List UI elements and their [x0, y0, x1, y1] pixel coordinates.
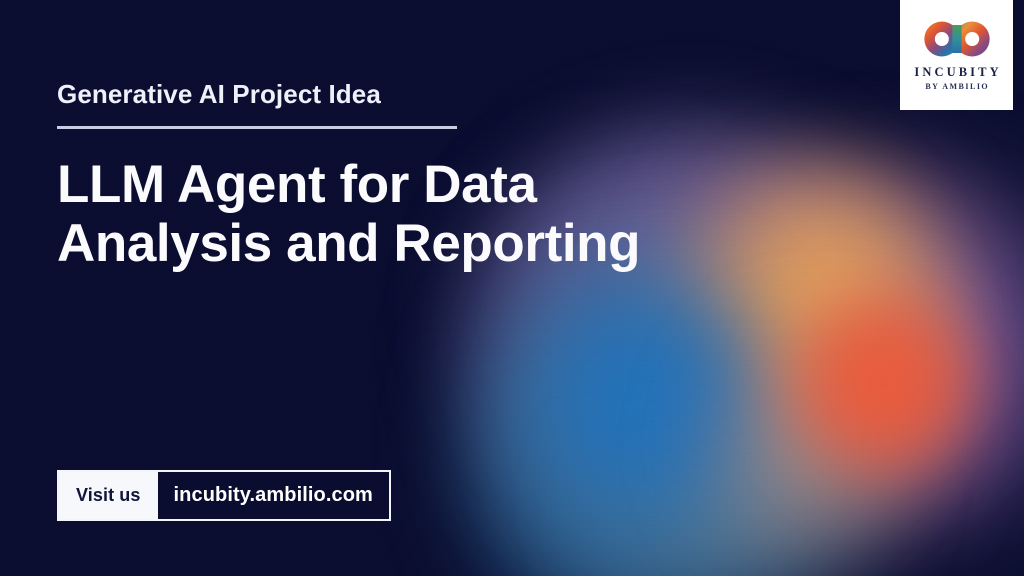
slide-canvas: Generative AI Project Idea LLM Agent for…: [0, 0, 1024, 576]
orb-teal-body: [462, 230, 892, 576]
orb-blue-core: [530, 275, 780, 550]
brand-tagline: BY AMBILIO: [924, 83, 989, 91]
visit-us-cta[interactable]: Visit us incubity.ambilio.com: [57, 470, 391, 521]
brand-wordmark: INCUBITY: [911, 66, 1001, 79]
page-title: LLM Agent for Data Analysis and Reportin…: [57, 155, 697, 274]
visit-us-label: Visit us: [59, 472, 158, 519]
headline-divider-rule: [57, 126, 457, 129]
brand-logo-card[interactable]: INCUBITY BY AMBILIO: [900, 0, 1013, 110]
orb-violet-halo-right: [690, 140, 1024, 560]
orb-sage-low: [590, 400, 890, 576]
incubity-infinity-loop-icon: [922, 19, 992, 59]
website-url-link[interactable]: incubity.ambilio.com: [158, 472, 389, 519]
page-title-line-2: Analysis and Reporting: [57, 214, 697, 273]
orb-peach-bridge: [700, 330, 950, 560]
orb-amber-upper: [668, 150, 968, 430]
page-title-line-1: LLM Agent for Data: [57, 155, 697, 214]
orb-red-orange-core: [788, 285, 988, 490]
eyebrow-label: Generative AI Project Idea: [57, 79, 381, 110]
